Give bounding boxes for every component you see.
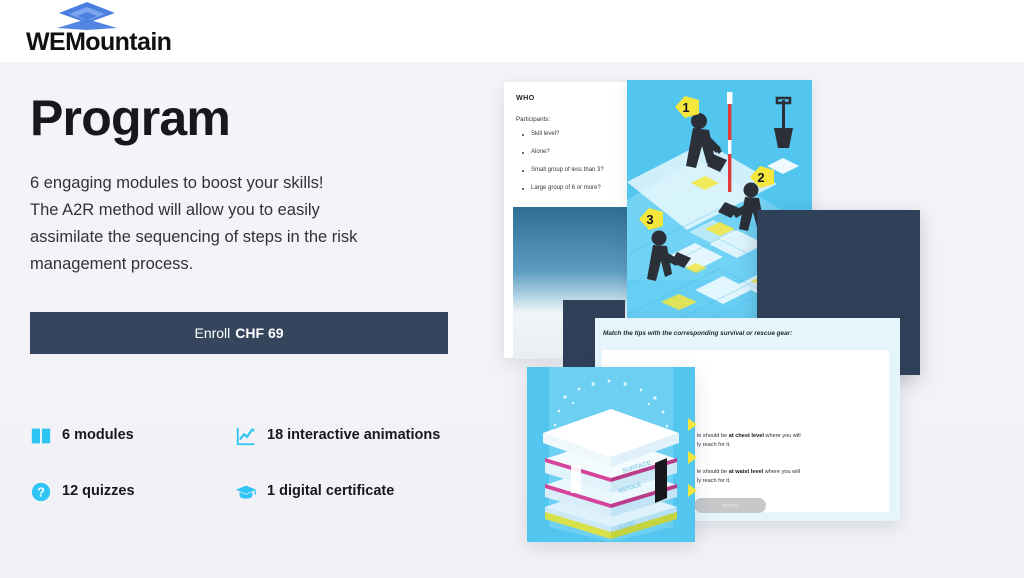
- book-icon: [30, 425, 52, 447]
- feature-item-modules: 6 modules: [30, 425, 235, 481]
- quiz-submit-button[interactable]: submit: [694, 498, 766, 513]
- feature-list: 6 modules 18 interactive animations ? 12…: [30, 425, 460, 503]
- who-card-title: WHO: [516, 93, 534, 102]
- site-header: WEMountain: [0, 0, 1024, 62]
- enroll-button-price: CHF 69: [235, 325, 283, 341]
- feature-label: 1 digital certificate: [267, 481, 394, 501]
- list-item: Alone?: [522, 149, 632, 155]
- hero-description: 6 engaging modules to boost your skills!…: [30, 170, 430, 278]
- brand-name: WEMountain: [26, 28, 171, 56]
- quiz-answer-2-post: where you will: [763, 469, 800, 475]
- feature-label: 6 modules: [62, 425, 134, 445]
- quiz-answer-1-line2: ly reach for it.: [697, 442, 731, 448]
- hero-description-line-2: The A2R method will allow you to easily: [30, 197, 430, 224]
- snowpack-layers-card[interactable]: SURFACE MIDDLE BASE: [527, 367, 695, 542]
- quiz-answer-1: le should be at chest level where you wi…: [697, 432, 877, 450]
- feature-item-certificate: 1 digital certificate: [235, 481, 460, 503]
- quiz-answer-2-bold: at waist level: [729, 469, 764, 475]
- page-title: Program: [30, 90, 470, 146]
- list-item: Large group of 6 or more?: [522, 185, 632, 191]
- hero-text-column: Program 6 engaging modules to boost your…: [30, 90, 470, 354]
- feature-label: 12 quizzes: [62, 481, 135, 501]
- who-card-list: Skill level? Alone? Small group of less …: [522, 131, 632, 203]
- list-item: Skill level?: [522, 131, 632, 137]
- feature-item-quizzes: ? 12 quizzes: [30, 481, 235, 503]
- graduation-cap-icon: [235, 481, 257, 503]
- svg-text:2: 2: [757, 170, 764, 185]
- hero-description-line-3: assimilate the sequencing of steps in th…: [30, 224, 430, 251]
- brand-logo[interactable]: WEMountain: [12, 2, 182, 60]
- svg-text:3: 3: [646, 212, 653, 227]
- layered-mountain-icon: [55, 2, 119, 30]
- quiz-answer-1-bold: at chest level: [729, 433, 764, 439]
- hero-description-line-4: management process.: [30, 251, 430, 278]
- quiz-answer-2-pre: le should be: [697, 469, 729, 475]
- who-card-subtitle: Participants:: [516, 116, 550, 123]
- quiz-answer-1-post: where you will: [764, 433, 801, 439]
- enroll-button[interactable]: Enroll CHF 69: [30, 312, 448, 354]
- hero-description-line-1: 6 engaging modules to boost your skills!: [30, 170, 430, 197]
- enroll-button-label: Enroll: [194, 325, 230, 341]
- chart-line-icon: [235, 425, 257, 447]
- feature-item-animations: 18 interactive animations: [235, 425, 460, 481]
- quiz-answer-2: le should be at waist level where you wi…: [697, 468, 877, 486]
- list-item: Small group of less than 3?: [522, 167, 632, 173]
- quiz-answer-2-line2: ly reach for it.: [697, 478, 731, 484]
- quiz-prompt: Match the tips with the corresponding su…: [603, 330, 792, 337]
- snowpack-layers-illustration: SURFACE MIDDLE BASE: [527, 367, 695, 542]
- question-circle-icon: ?: [30, 481, 52, 503]
- svg-text:?: ?: [37, 485, 45, 500]
- svg-text:1: 1: [682, 100, 689, 115]
- feature-label: 18 interactive animations: [267, 425, 440, 445]
- quiz-answer-1-pre: le should be: [697, 433, 729, 439]
